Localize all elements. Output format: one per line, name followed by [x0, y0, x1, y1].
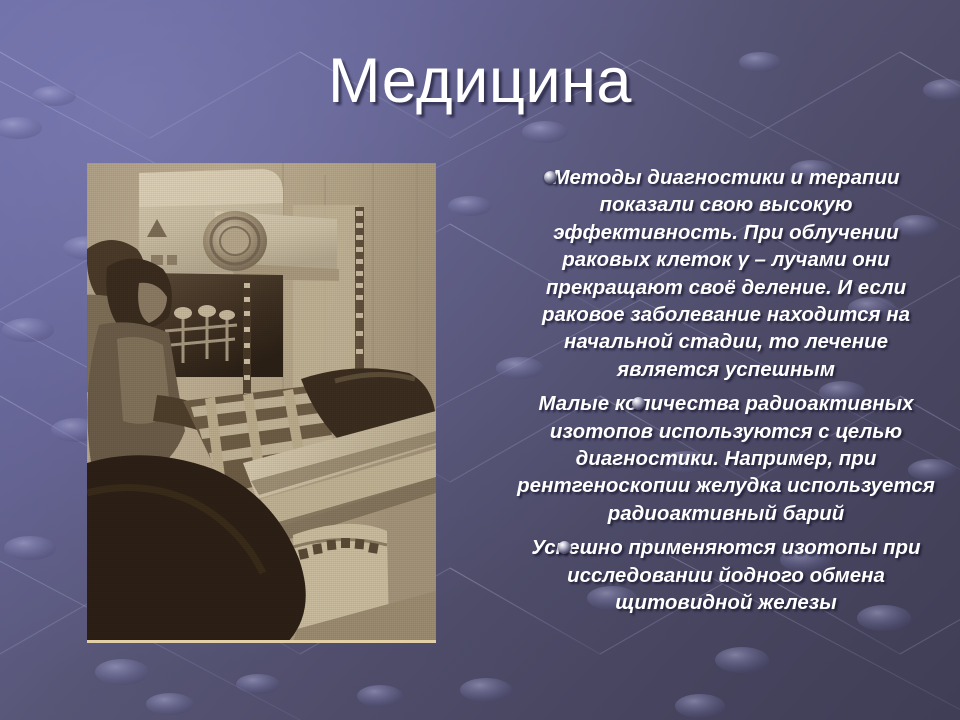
radiation-therapy-photo: [87, 163, 436, 643]
sphere-bullet-icon: [544, 171, 557, 184]
bullet-text: Малые количества радиоактивных изотопов …: [500, 390, 952, 527]
presentation-slide: Медицина: [0, 0, 960, 720]
slide-title: Медицина: [0, 48, 960, 114]
bullet-text: Методы диагностики и терапии показали св…: [500, 164, 952, 383]
photo-grain-overlay: [87, 163, 436, 640]
list-item: Успешно применяются изотопы при исследов…: [500, 534, 952, 616]
list-item: Малые количества радиоактивных изотопов …: [500, 390, 952, 527]
bullet-list: Методы диагностики и терапии показали св…: [500, 164, 952, 624]
list-item: Методы диагностики и терапии показали св…: [500, 164, 952, 383]
